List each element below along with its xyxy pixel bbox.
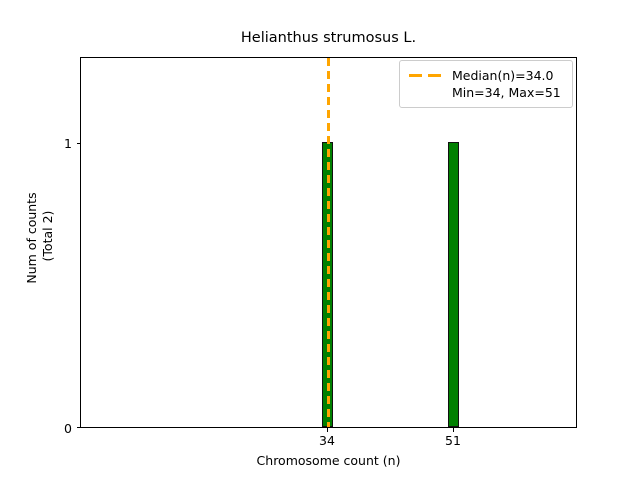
y-axis-label-wrapper: Num of counts (Total 2) [0,0,40,480]
plot-area [80,57,577,428]
legend-label-median: Median(n)=34.0 [452,67,553,84]
legend-row-minmax: Min=34, Max=51 [407,84,565,101]
xtick-label-51: 51 [423,433,483,448]
legend: Median(n)=34.0 Min=34, Max=51 [399,60,573,108]
median-line [327,58,330,427]
xtick-label-34: 34 [297,433,357,448]
y-axis-label: Num of counts (Total 2) [24,0,56,478]
ytick-mark-1 [77,143,81,144]
bar-51 [448,142,459,427]
x-axis-label: Chromosome count (n) [80,453,577,468]
legend-label-minmax: Min=34, Max=51 [452,84,561,101]
xtick-mark-51 [453,428,454,432]
dashed-line-icon [407,67,445,84]
chart-title: Helianthus strumosus L. [80,29,577,47]
ytick-mark-0 [77,427,81,428]
xtick-mark-34 [327,428,328,432]
legend-row-median: Median(n)=34.0 [407,67,565,84]
matplotlib-figure: Helianthus strumosus L. 34 51 0 1 Chromo… [0,0,640,480]
ytick-label-1: 1 [56,136,72,151]
ytick-label-0: 0 [56,421,72,436]
